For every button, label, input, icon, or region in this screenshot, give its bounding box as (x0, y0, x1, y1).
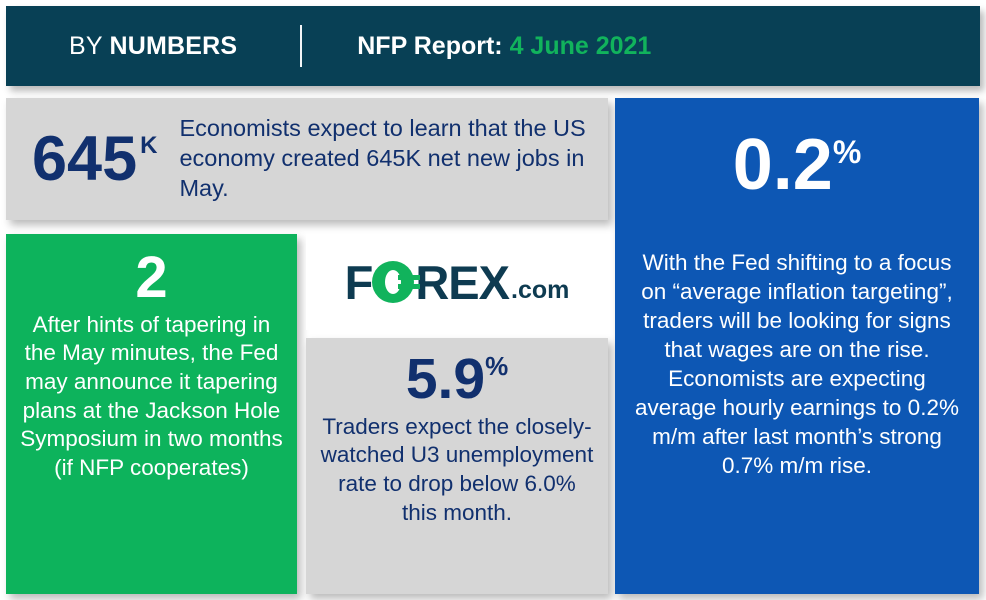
stat-jobs-number: 645 (32, 128, 137, 191)
header-report-date: 4 June 2021 (510, 32, 652, 60)
card-jobs-body: Economists expect to learn that the US e… (179, 114, 598, 204)
logo-tld-com: .com (511, 278, 569, 303)
infographic-root: BY NUMBERS NFP Report: 4 June 2021 645K … (0, 0, 986, 600)
stat-earnings-unit: % (833, 136, 861, 168)
card-earnings-body: With the Fed shifting to a focus on “ave… (633, 248, 961, 480)
euro-circle-icon (372, 261, 414, 303)
header-divider (300, 25, 302, 67)
stat-earnings-number: 0.2 (733, 128, 833, 204)
header-title-bold: NUMBERS (109, 32, 237, 60)
brand-logo-panel: F REX .com (306, 234, 608, 330)
card-jobs: 645K Economists expect to learn that the… (6, 98, 608, 220)
logo-letter-f: F (345, 259, 373, 306)
card-unemployment-body: Traders expect the closely-watched U3 un… (320, 413, 594, 528)
card-tapering: 2 After hints of tapering in the May min… (6, 234, 297, 594)
stat-unemployment-number: 5.9 (406, 348, 485, 411)
stat-unemployment-value: 5.9% (406, 348, 508, 411)
stat-jobs-unit: K (140, 134, 157, 158)
logo-letters-rex: REX (415, 259, 509, 306)
forex-com-logo: F REX .com (345, 259, 570, 306)
euro-bar-bottom (398, 284, 420, 289)
stat-earnings-value: 0.2% (733, 128, 862, 204)
header-title-light: BY (69, 32, 109, 60)
header-bar: BY NUMBERS NFP Report: 4 June 2021 (6, 6, 980, 86)
stat-unemployment-unit: % (485, 353, 508, 379)
euro-bar-top (398, 275, 420, 280)
card-earnings: 0.2% With the Fed shifting to a focus on… (615, 98, 979, 594)
header-title: BY NUMBERS (69, 32, 237, 61)
header-report: NFP Report: 4 June 2021 (357, 32, 651, 61)
header-report-label: NFP Report: (357, 32, 502, 60)
stat-tapering-value: 2 (18, 248, 285, 309)
card-unemployment: 5.9% Traders expect the closely-watched … (306, 338, 608, 594)
card-tapering-body: After hints of tapering in the May minut… (18, 311, 285, 482)
stat-jobs-value: 645K (32, 128, 157, 191)
